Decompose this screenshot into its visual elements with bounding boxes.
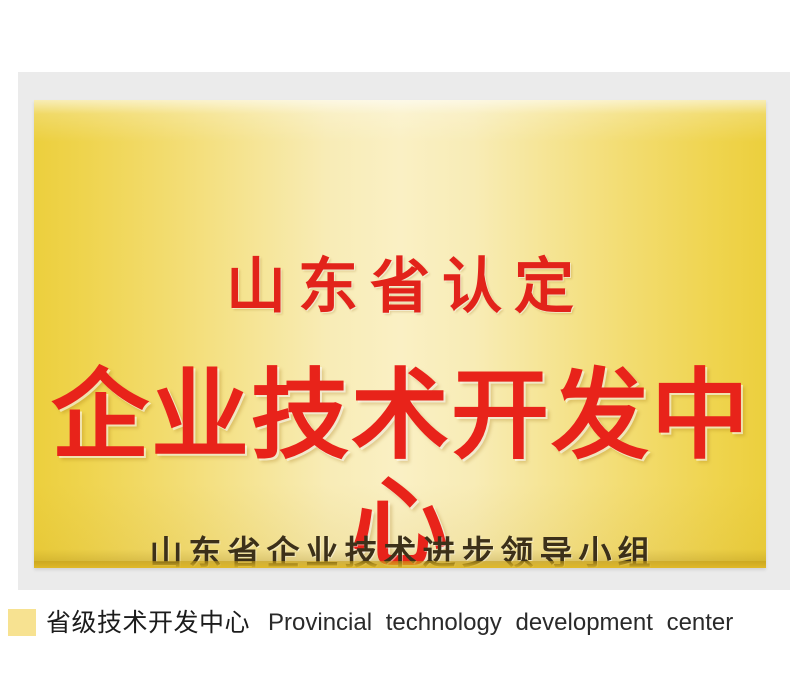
- plaque-text-block: 山东省认定 企业技术开发中心 山东省企业技术进步领导小组 一九九五年: [34, 100, 766, 568]
- product-image: 山东省认定 企业技术开发中心 山东省企业技术进步领导小组 一九九五年: [0, 0, 800, 597]
- caption-row: 省级技术开发中心 Provincial technology developme…: [0, 600, 800, 645]
- plaque-issuing-authority: 山东省企业技术进步领导小组: [34, 532, 766, 568]
- plaque-heading: 山东省认定: [34, 252, 766, 322]
- caption-color-swatch: [8, 609, 36, 636]
- caption-label-chinese: 省级技术开发中心: [46, 608, 250, 638]
- caption-label-english: Provincial technology development center: [268, 608, 733, 638]
- certification-plaque: 山东省认定 企业技术开发中心 山东省企业技术进步领导小组 一九九五年: [34, 100, 766, 568]
